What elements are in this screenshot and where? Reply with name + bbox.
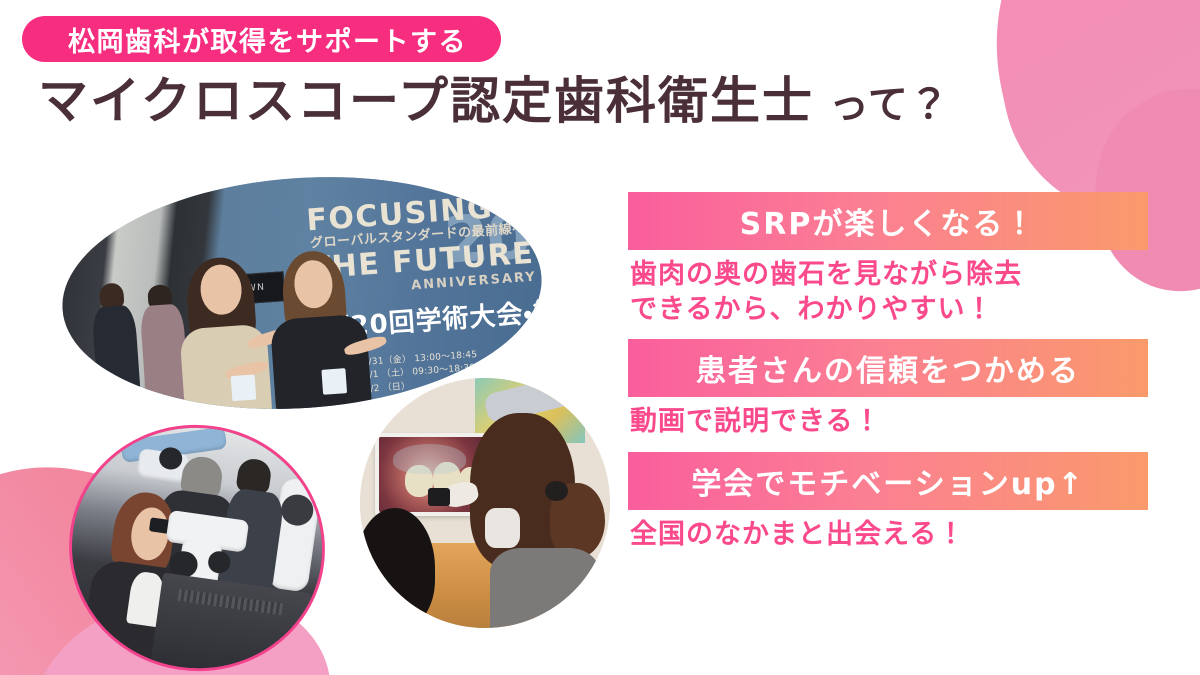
pointer-device: [428, 488, 451, 506]
page-title-main: マイクロスコープ認定歯科衛生士: [38, 72, 814, 130]
name-badge-b: [322, 368, 348, 395]
hygienist-mask: [485, 508, 520, 548]
woman-b-body: [270, 314, 372, 415]
hygienist-hairtie: [545, 481, 568, 501]
benefit-1-description: 歯肉の奥の歯石を見ながら除去 できるから、わかりやすい！: [630, 258, 1148, 327]
photo-patient-explanation: [360, 378, 610, 628]
poster-canvas: 松岡歯科が取得をサポートする マイクロスコープ認定歯科衛生士 って？ MIDTO…: [0, 0, 1200, 675]
benefit-2-heading: 患者さんの信頼をつかめる: [628, 339, 1148, 397]
hygienist-uniform: [490, 548, 600, 628]
benefit-item-1: SRPが楽しくなる！ 歯肉の奥の歯石を見ながら除去 できるから、わかりやすい！: [628, 192, 1148, 327]
photo-microscope-training: [57, 412, 338, 675]
benefits-list: SRPが楽しくなる！ 歯肉の奥の歯石を見ながら除去 できるから、わかりやすい！ …: [628, 192, 1148, 564]
photo-patient-explanation-content: [360, 378, 610, 628]
benefit-1-description-line-1: 歯肉の奥の歯石を見ながら除去: [630, 258, 1148, 293]
benefit-item-2: 患者さんの信頼をつかめる 動画で説明できる！: [628, 339, 1148, 440]
benefit-1-description-line-2: できるから、わかりやすい！: [630, 293, 1148, 328]
benefit-1-heading: SRPが楽しくなる！: [628, 192, 1148, 250]
page-title: マイクロスコープ認定歯科衛生士 って？: [38, 74, 950, 129]
background-person-body: [91, 305, 141, 414]
benefit-2-description-line-1: 動画で説明できる！: [630, 405, 1148, 440]
benefit-3-description: 全国のなかまと出会える！: [630, 518, 1148, 553]
mirror-reflection: [393, 444, 466, 474]
photo-microscope-content: [57, 412, 338, 675]
header-badge: 松岡歯科が取得をサポートする: [22, 16, 501, 62]
name-badge-a: [231, 375, 257, 402]
benefit-2-description: 動画で説明できる！: [630, 405, 1148, 440]
conference-banner-text: FOCUSING ON グローバルスタンダードの最前線へ THE FUTURE: [305, 188, 549, 285]
benefit-3-heading: 学会でモチベーションup↑: [628, 452, 1148, 510]
page-title-tail: って？: [814, 82, 950, 128]
benefit-item-3: 学会でモチベーションup↑ 全国のなかまと出会える！: [628, 452, 1148, 553]
patient-head: [360, 508, 435, 628]
benefit-3-description-line-1: 全国のなかまと出会える！: [630, 518, 1148, 553]
